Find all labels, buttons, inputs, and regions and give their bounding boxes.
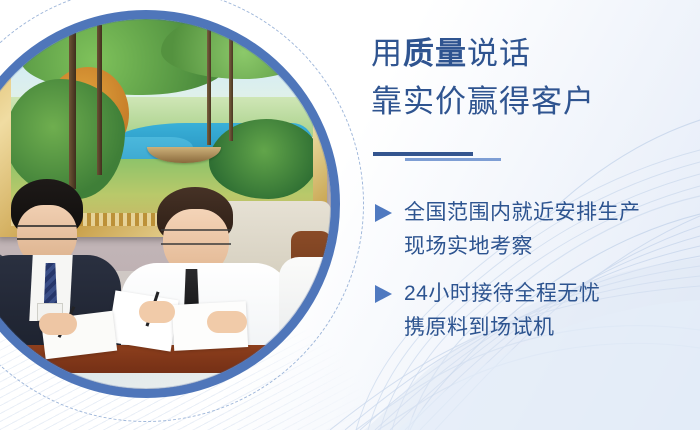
- divider-secondary: [405, 158, 501, 161]
- list-item: 全国范围内就近安排生产 现场实地考察: [371, 196, 700, 264]
- feature-sub-text: 携原料到场试机: [371, 311, 700, 345]
- feature-list: 全国范围内就近安排生产 现场实地考察 24小时接待全程无忧 携原料到场试机: [371, 196, 700, 358]
- headline-line-1: 用质量说话: [371, 33, 691, 74]
- feature-sub-text: 现场实地考察: [371, 230, 700, 264]
- hero-photo: [0, 10, 340, 398]
- list-item: 24小时接待全程无忧 携原料到场试机: [371, 277, 700, 345]
- play-arrow-icon: [371, 203, 397, 223]
- promo-banner: 用质量说话 靠实价赢得客户 全国范围内就近安排生产 现场实地考察: [0, 0, 700, 430]
- divider-primary: [373, 152, 473, 156]
- banner-content: 用质量说话 靠实价赢得客户 全国范围内就近安排生产 现场实地考察: [371, 0, 700, 430]
- play-arrow-icon: [371, 284, 397, 304]
- headline-emphasis: 质量: [403, 36, 467, 71]
- feature-main-text: 全国范围内就近安排生产: [404, 196, 641, 230]
- headline-line-2: 靠实价赢得客户: [371, 76, 595, 121]
- headline-prefix: 用: [371, 36, 403, 71]
- feature-main-text: 24小时接待全程无忧: [404, 277, 600, 311]
- headline-suffix: 说话: [467, 36, 531, 71]
